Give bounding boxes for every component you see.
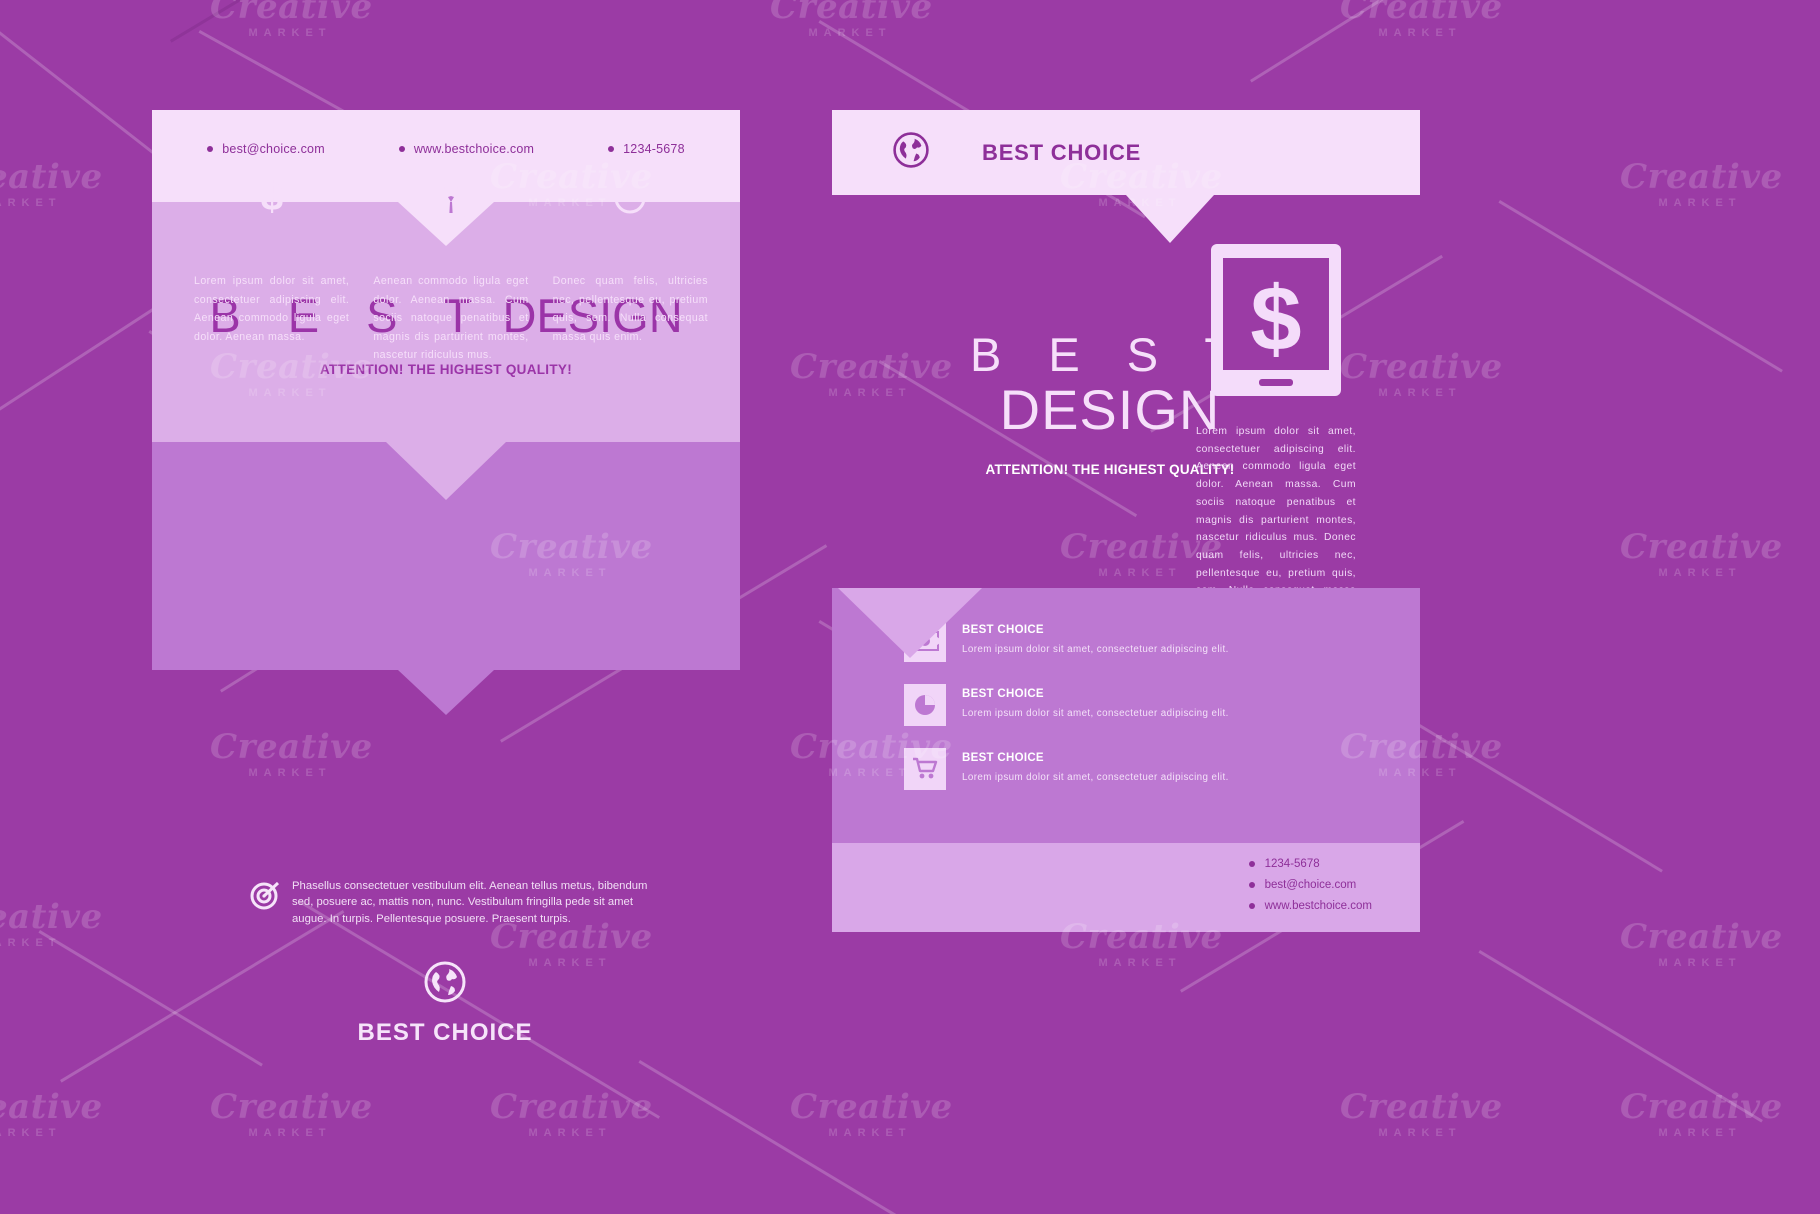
- feature-column: $ Lorem ipsum dolor sit amet, consectetu…: [182, 170, 361, 365]
- watermark: CreativeMARKET: [1620, 1090, 1780, 1139]
- poster-stage: best@choice.com www.bestchoice.com 1234-…: [0, 0, 1820, 1214]
- right-banner-row: BEST CHOICE: [892, 110, 1141, 195]
- svg-text:$: $: [1250, 268, 1301, 370]
- bullet-dot-icon: [1249, 861, 1255, 867]
- left-flyer-footer-text: Phasellus consectetuer vestibulum elit. …: [292, 878, 650, 927]
- list-item-text: Lorem ipsum dolor sit amet, consectetuer…: [962, 706, 1229, 722]
- left-flyer-logo-name: BEST CHOICE: [300, 1019, 590, 1047]
- pie-chart-icon: [904, 684, 946, 726]
- dollar-icon: $: [194, 170, 349, 226]
- watermark: CreativeMARKET: [0, 160, 100, 209]
- list-item-text: Lorem ipsum dolor sit amet, consectetuer…: [962, 770, 1229, 786]
- businessman-icon: [373, 170, 528, 226]
- bullet-dot-icon: [1249, 882, 1255, 888]
- shopping-cart-icon: [904, 748, 946, 790]
- decor-streak: [1478, 950, 1762, 1123]
- contact-phone[interactable]: 1234-5678: [608, 142, 685, 156]
- watermark: CreativeMARKET: [1340, 0, 1500, 39]
- watermark: CreativeMARKET: [0, 1090, 100, 1139]
- contact-website[interactable]: www.bestchoice.com: [1249, 900, 1372, 912]
- tablet-block: $ Lorem ipsum dolor sit amet, consectetu…: [1196, 240, 1356, 618]
- contact-phone-text: 1234-5678: [623, 142, 685, 156]
- watermark: CreativeMARKET: [1340, 1090, 1500, 1139]
- svg-text:$: $: [261, 179, 283, 217]
- watermark: CreativeMARKET: [1340, 350, 1500, 399]
- watermark: CreativeMARKET: [210, 730, 370, 779]
- list-item-heading: BEST CHOICE: [962, 752, 1044, 764]
- chevron-notch: [1126, 195, 1214, 243]
- left-flyer-footer: Phasellus consectetuer vestibulum elit. …: [250, 878, 650, 927]
- watermark: CreativeMARKET: [1620, 920, 1780, 969]
- left-flyer: best@choice.com www.bestchoice.com 1234-…: [152, 110, 740, 670]
- right-card-contacts: 1234-5678 best@choice.com www.bestchoice…: [1249, 858, 1372, 921]
- list-item[interactable]: BEST CHOICE Lorem ipsum dolor sit amet, …: [904, 748, 1264, 790]
- feature-column: Aenean commodo ligula eget dolor. Aenean…: [361, 170, 540, 365]
- list-item-heading: BEST CHOICE: [962, 688, 1044, 700]
- watermark: CreativeMARKET: [210, 1090, 370, 1139]
- decor-streak: [1498, 200, 1782, 373]
- bullet-dot-icon: [399, 146, 405, 152]
- contact-email-text: best@choice.com: [1265, 879, 1357, 891]
- contact-email[interactable]: best@choice.com: [207, 142, 325, 156]
- contact-phone-text: 1234-5678: [1265, 858, 1320, 870]
- bullet-dot-icon: [608, 146, 614, 152]
- feature-column-text: Lorem ipsum dolor sit amet, consectetuer…: [194, 272, 349, 346]
- watermark: CreativeMARKET: [1620, 160, 1780, 209]
- contact-phone[interactable]: 1234-5678: [1249, 858, 1372, 870]
- bullet-dot-icon: [1249, 903, 1255, 909]
- clock-icon: [553, 170, 708, 226]
- contact-website-text: www.bestchoice.com: [1265, 900, 1372, 912]
- list-item[interactable]: BEST CHOICE Lorem ipsum dolor sit amet, …: [904, 684, 1264, 726]
- left-flyer-logo[interactable]: BEST CHOICE: [300, 960, 590, 1047]
- decor-streak: [38, 930, 262, 1066]
- watermark: CreativeMARKET: [210, 0, 370, 39]
- contact-email[interactable]: best@choice.com: [1249, 879, 1372, 891]
- feature-columns: $ Lorem ipsum dolor sit amet, consectetu…: [182, 170, 720, 365]
- decor-streak: [1250, 0, 1608, 83]
- contact-email-text: best@choice.com: [222, 142, 325, 156]
- feature-column-text: Donec quam felis, ultricies nec, pellent…: [553, 272, 708, 346]
- chevron-notch: [398, 670, 494, 715]
- globe-icon: [892, 131, 930, 174]
- list-item-text: Lorem ipsum dolor sit amet, consectetuer…: [962, 642, 1229, 658]
- target-icon: [250, 880, 280, 915]
- right-banner: BEST CHOICE: [832, 110, 1420, 195]
- watermark: CreativeMARKET: [490, 1090, 650, 1139]
- bullet-dot-icon: [207, 146, 213, 152]
- contact-website[interactable]: www.bestchoice.com: [399, 142, 534, 156]
- feature-column: Donec quam felis, ultricies nec, pellent…: [541, 170, 720, 365]
- watermark: CreativeMARKET: [0, 900, 100, 949]
- feature-column-text: Aenean commodo ligula eget dolor. Aenean…: [373, 272, 528, 365]
- right-banner-name: BEST CHOICE: [982, 140, 1141, 166]
- decor-streak: [638, 1060, 922, 1214]
- contact-row: best@choice.com www.bestchoice.com 1234-…: [152, 142, 740, 156]
- watermark: CreativeMARKET: [1620, 530, 1780, 579]
- decor-streak: [170, 0, 394, 43]
- decor-streak: [1378, 700, 1662, 873]
- contact-website-text: www.bestchoice.com: [414, 142, 534, 156]
- tablet-dollar-icon: $: [1196, 240, 1356, 405]
- chevron-notch: [386, 442, 506, 500]
- chevron-notch: [838, 588, 982, 658]
- watermark: CreativeMARKET: [790, 1090, 950, 1139]
- globe-icon: [300, 960, 590, 1009]
- watermark: CreativeMARKET: [770, 0, 930, 39]
